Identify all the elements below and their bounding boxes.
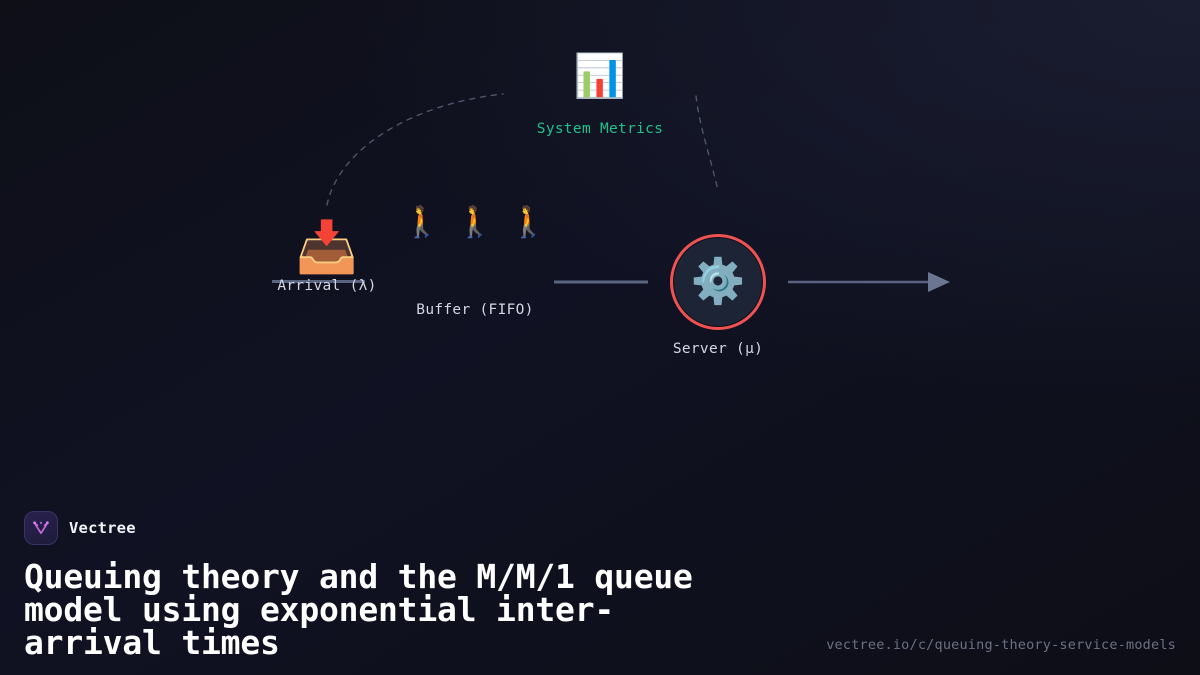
walking-person-icon: 🚶 [456, 208, 493, 238]
inbox-tray-icon: 📥 [296, 222, 358, 272]
page-title-line-1: Queuing theory and the M/M/1 queue [24, 560, 804, 593]
server-ring: ⚙️ [670, 234, 766, 330]
walking-person-icon: 🚶 [510, 208, 547, 238]
diagram-node-arrival-label: Arrival (λ) [277, 278, 376, 294]
diagram-node-metrics[interactable]: 📊 System Metrics [537, 55, 663, 137]
brand[interactable]: Vectree [24, 511, 1176, 545]
diagram-node-metrics-label: System Metrics [537, 121, 663, 137]
diagram-node-server[interactable]: ⚙️ Server (μ) [670, 234, 766, 357]
diagram-node-buffer[interactable]: 🚶 🚶 🚶 Buffer (FIFO) [403, 208, 547, 318]
brand-name: Vectree [69, 519, 136, 537]
page-title-line-3: arrival times [24, 626, 804, 659]
page-title-line-2: model using exponential inter- [24, 593, 804, 626]
diagram-node-arrival[interactable]: 📥 Arrival (λ) [277, 222, 376, 294]
vectree-v-logo-icon [24, 511, 58, 545]
page-title: Queuing theory and the M/M/1 queue model… [24, 560, 804, 659]
gear-icon: ⚙️ [691, 260, 746, 304]
footer: Vectree Queuing theory and the M/M/1 que… [0, 511, 1200, 675]
dashed-curve-arrival-to-metrics [327, 94, 503, 205]
buffer-queue-people: 🚶 🚶 🚶 [403, 208, 547, 238]
source-url: vectree.io/c/queuing-theory-service-mode… [826, 637, 1176, 653]
slide-canvas: 📊 System Metrics 📥 Arrival (λ) 🚶 🚶 🚶 Buf… [0, 0, 1200, 675]
bar-chart-icon: 📊 [574, 55, 626, 97]
diagram-node-buffer-label: Buffer (FIFO) [416, 302, 533, 318]
arrowhead-departure-icon [928, 272, 950, 292]
diagram-node-server-label: Server (μ) [673, 341, 763, 357]
walking-person-icon: 🚶 [403, 208, 440, 238]
dashed-curve-metrics-to-server [696, 96, 718, 191]
